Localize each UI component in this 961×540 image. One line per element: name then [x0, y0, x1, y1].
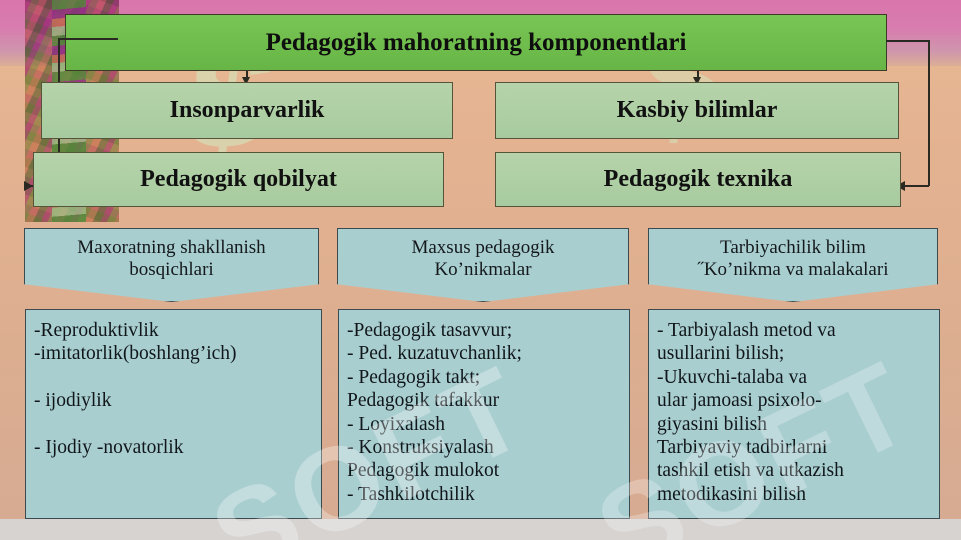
title-text: Pedagogik mahoratning komponentlari	[266, 29, 687, 57]
column-header-text: Maxsus pedagogik Ko’nikmalar	[411, 237, 554, 282]
component-label: Kasbiy bilimlar	[617, 97, 778, 124]
column-body-educator-knowledge: - Tarbiyalash metod va usullarini bilish…	[648, 309, 940, 519]
component-box-pedagogik-texnika: Pedagogik texnika	[495, 152, 901, 207]
connector-left-top-horizontal	[58, 38, 118, 40]
slide-canvas: $ $ Pedagogik mahoratning komponentlari …	[0, 0, 961, 540]
component-label: Pedagogik texnika	[604, 166, 793, 193]
connector-right-bottom-horizontal	[905, 185, 929, 187]
column-header-text: Maxoratning shakllanish bosqichlari	[77, 237, 265, 282]
column-header-text: Tarbiyachilik bilim ˝Ko’nikma va malakal…	[698, 237, 889, 282]
connector-right-vertical	[928, 40, 930, 186]
component-box-pedagogik-qobilyat: Pedagogik qobilyat	[33, 152, 444, 207]
component-box-insonparvarlik: Insonparvarlik	[41, 82, 453, 139]
component-label: Insonparvarlik	[170, 97, 325, 124]
slide-footer-strip	[0, 519, 961, 540]
title-box: Pedagogik mahoratning komponentlari	[65, 14, 887, 71]
component-box-kasbiy-bilimlar: Kasbiy bilimlar	[495, 82, 899, 139]
connector-right-top-horizontal	[886, 40, 929, 42]
component-label: Pedagogik qobilyat	[140, 166, 337, 193]
column-body-stages: -Reproduktivlik -imitatorlik(boshlang’ic…	[25, 309, 322, 519]
column-body-special-skills: -Pedagogik tasavvur; - Ped. kuzatuvchanl…	[338, 309, 630, 519]
